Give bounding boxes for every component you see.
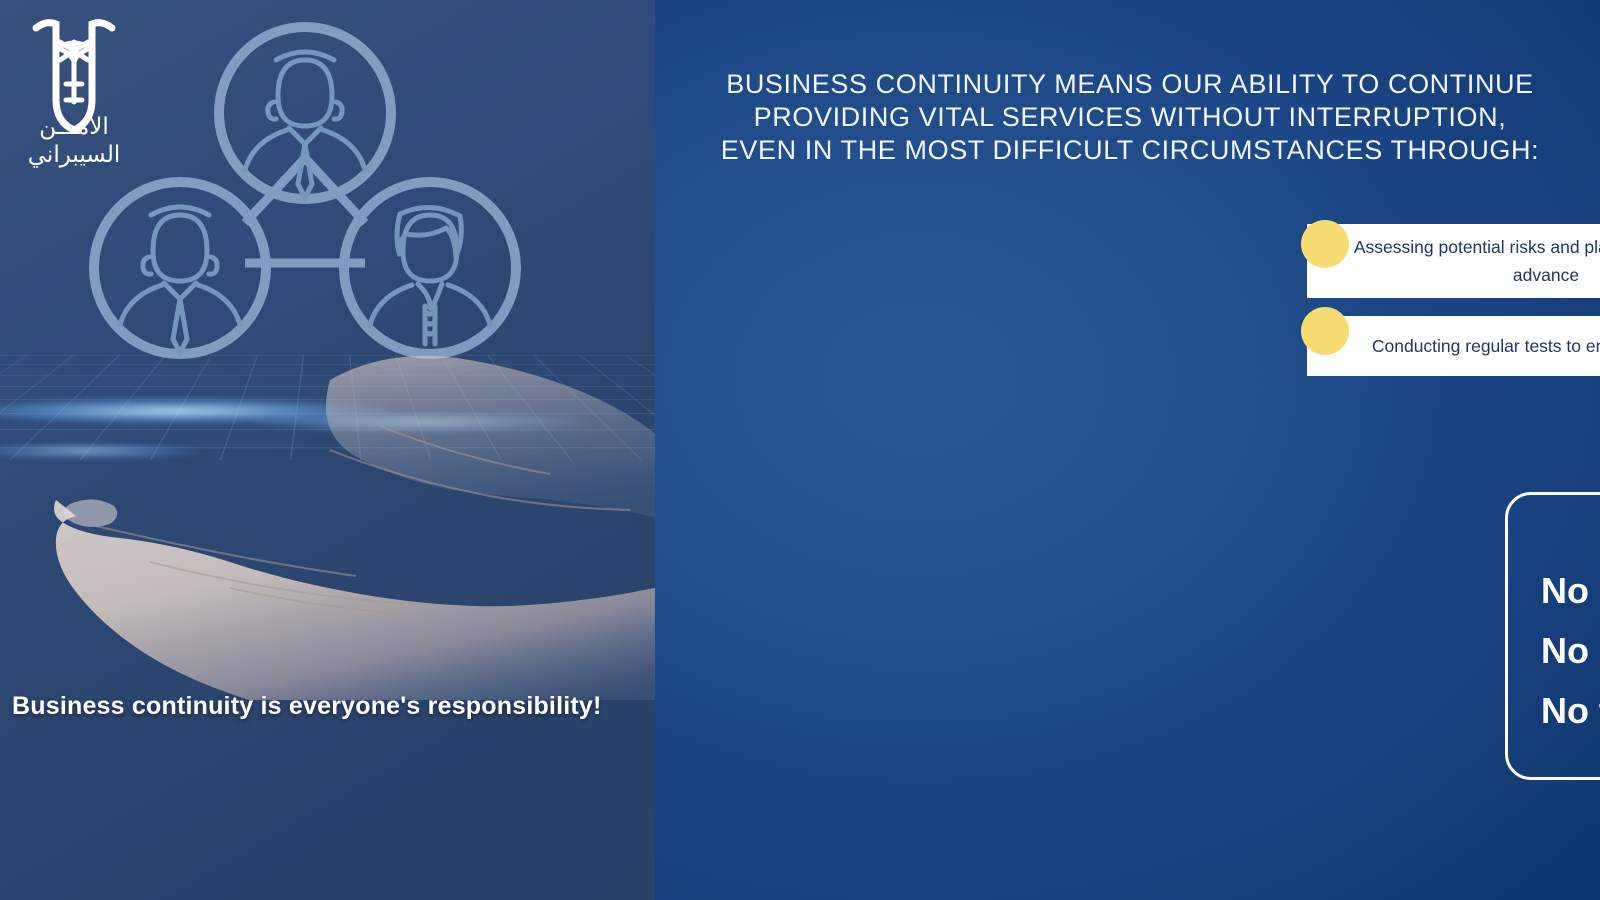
logo-arabic-line-2: السيبراني	[28, 142, 120, 168]
equation-left: No plan	[1541, 570, 1600, 612]
fact-card[interactable]: Conducting regular tests to ensure readi…	[1307, 316, 1600, 376]
left-visual-panel: Business continuity is everyone's respon…	[0, 0, 655, 900]
fact-card-label: Conducting regular tests to ensure readi…	[1307, 323, 1600, 369]
right-content-panel: BUSINESS CONTINUITY MEANS OUR ABILITY TO…	[655, 0, 1600, 900]
tagline-text: Business continuity is everyone's respon…	[12, 692, 652, 721]
equation-row: No testing = No assurance	[1541, 690, 1600, 732]
equation-row: No plan = No readiness	[1541, 570, 1600, 612]
fact-card-group: Assessing potential risks and planning f…	[655, 224, 1600, 394]
bullet-dot-icon	[1301, 220, 1349, 268]
fact-card-label: Assessing potential risks and planning f…	[1307, 224, 1600, 298]
poster-root: Business continuity is everyone's respon…	[0, 0, 1600, 900]
cyber-security-shield-logo: الأمـــن السيبراني	[14, 12, 134, 172]
open-palm-hand-icon	[0, 330, 655, 700]
fact-card[interactable]: Assessing potential risks and planning f…	[1307, 224, 1600, 298]
connected-people-network-icon	[70, 18, 540, 378]
equation-row: No awareness = No response	[1541, 630, 1600, 672]
equation-list: No plan = No readiness No awareness = No…	[1541, 570, 1600, 750]
page-title: BUSINESS CONTINUITY MEANS OUR ABILITY TO…	[715, 68, 1545, 167]
equation-left: No testing	[1541, 690, 1600, 732]
logo-arabic-line-1: الأمـــن	[39, 112, 109, 140]
bullet-dot-icon	[1301, 307, 1349, 355]
equation-left: No awareness	[1541, 630, 1600, 672]
